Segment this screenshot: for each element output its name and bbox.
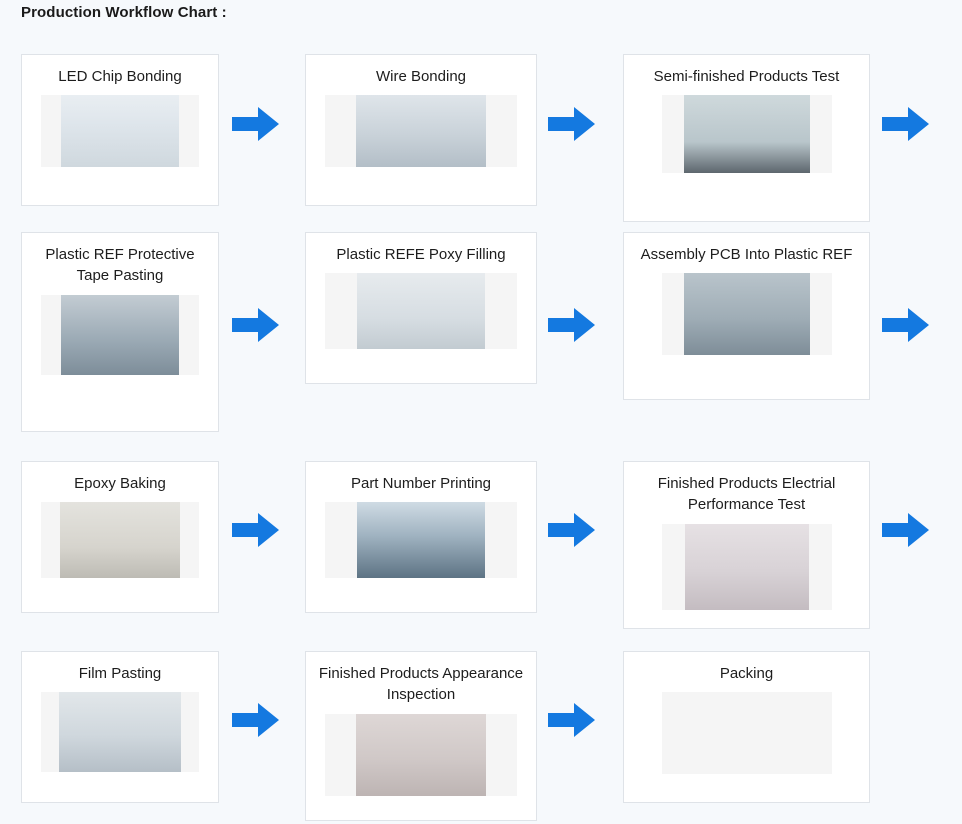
workflow-step-title: Plastic REFE Poxy Filling	[306, 233, 536, 265]
workflow-row: LED Chip BondingWire BondingSemi-finishe…	[0, 54, 962, 222]
workflow-step-cell: Wire Bonding	[305, 54, 537, 206]
workflow-step-card[interactable]: Epoxy Baking	[21, 461, 219, 613]
workflow-step-image-frame	[662, 692, 832, 774]
workflow-step-card[interactable]: LED Chip Bonding	[21, 54, 219, 206]
workflow-step-cell: Epoxy Baking	[21, 461, 219, 613]
led-chip-bonding-photo	[61, 95, 179, 167]
workflow-step-cell: Plastic REFE Poxy Filling	[305, 232, 537, 384]
arrow-right-icon	[232, 510, 280, 550]
workflow-step-image-frame	[41, 502, 199, 578]
workflow-step-card[interactable]: Assembly PCB Into Plastic REF	[623, 232, 870, 400]
workflow-step-cell: Assembly PCB Into Plastic REF	[623, 232, 870, 400]
workflow-step-title: Film Pasting	[22, 652, 218, 684]
wire-bonding-photo	[356, 95, 486, 167]
epoxy-baking-photo	[60, 502, 180, 578]
workflow-step-image-frame	[325, 714, 517, 796]
workflow-step-cell: Film Pasting	[21, 651, 219, 803]
workflow-step-card[interactable]: Plastic REFE Poxy Filling	[305, 232, 537, 384]
workflow-row: Film PastingFinished Products Appearance…	[0, 651, 962, 821]
arrow-right-icon	[882, 305, 930, 345]
workflow-step-image-frame	[325, 502, 517, 578]
workflow-step-image-frame	[41, 692, 199, 772]
workflow-step-card[interactable]: Finished Products Appearance Inspection	[305, 651, 537, 821]
arrow-right-icon	[232, 104, 280, 144]
workflow-step-title: Part Number Printing	[306, 462, 536, 494]
arrow-right-icon	[232, 700, 280, 740]
arrow-right-icon	[548, 305, 596, 345]
workflow-step-image-frame	[325, 95, 517, 167]
workflow-row: Plastic REF Protective Tape PastingPlast…	[0, 232, 962, 432]
workflow-step-cell: Finished Products Appearance Inspection	[305, 651, 537, 821]
arrow-right-icon	[882, 510, 930, 550]
workflow-step-cell: Part Number Printing	[305, 461, 537, 613]
arrow-right-icon	[548, 104, 596, 144]
workflow-step-cell: Packing	[623, 651, 870, 803]
semi-finished-products-test-photo	[684, 95, 810, 173]
film-pasting-photo	[59, 692, 181, 772]
finished-products-electrial-performance-test-photo	[685, 524, 809, 610]
workflow-step-title: Finished Products Electrial Performance …	[624, 462, 869, 516]
workflow-step-title: Epoxy Baking	[22, 462, 218, 494]
plastic-ref-protective-tape-pasting-photo	[61, 295, 179, 375]
workflow-step-card[interactable]: Part Number Printing	[305, 461, 537, 613]
workflow-row: Epoxy BakingPart Number PrintingFinished…	[0, 461, 962, 629]
workflow-step-image-frame	[662, 95, 832, 173]
workflow-step-cell: LED Chip Bonding	[21, 54, 219, 206]
workflow-step-card[interactable]: Plastic REF Protective Tape Pasting	[21, 232, 219, 432]
workflow-step-cell: Plastic REF Protective Tape Pasting	[21, 232, 219, 432]
production-workflow-chart: LED Chip BondingWire BondingSemi-finishe…	[0, 0, 962, 824]
workflow-step-card[interactable]: Packing	[623, 651, 870, 803]
workflow-step-card[interactable]: Wire Bonding	[305, 54, 537, 206]
finished-products-appearance-inspection-photo	[356, 714, 486, 796]
workflow-step-image-frame	[41, 95, 199, 167]
workflow-step-title: Plastic REF Protective Tape Pasting	[22, 233, 218, 287]
workflow-step-image-frame	[41, 295, 199, 375]
workflow-step-title: Wire Bonding	[306, 55, 536, 87]
arrow-right-icon	[548, 510, 596, 550]
workflow-step-card[interactable]: Film Pasting	[21, 651, 219, 803]
workflow-step-cell: Finished Products Electrial Performance …	[623, 461, 870, 629]
packing-photo	[677, 692, 817, 774]
workflow-step-card[interactable]: Finished Products Electrial Performance …	[623, 461, 870, 629]
workflow-step-image-frame	[662, 273, 832, 355]
workflow-step-title: Semi-finished Products Test	[624, 55, 869, 87]
plastic-refe-poxy-filling-photo	[357, 273, 485, 349]
workflow-step-title: Packing	[624, 652, 869, 684]
workflow-step-cell: Semi-finished Products Test	[623, 54, 870, 222]
part-number-printing-photo	[357, 502, 485, 578]
arrow-right-icon	[548, 700, 596, 740]
workflow-step-title: Finished Products Appearance Inspection	[306, 652, 536, 706]
workflow-step-image-frame	[325, 273, 517, 349]
workflow-step-title: Assembly PCB Into Plastic REF	[624, 233, 869, 265]
assembly-pcb-into-plastic-ref-photo	[684, 273, 810, 355]
arrow-right-icon	[232, 305, 280, 345]
workflow-step-card[interactable]: Semi-finished Products Test	[623, 54, 870, 222]
workflow-step-title: LED Chip Bonding	[22, 55, 218, 87]
arrow-right-icon	[882, 104, 930, 144]
workflow-step-image-frame	[662, 524, 832, 610]
